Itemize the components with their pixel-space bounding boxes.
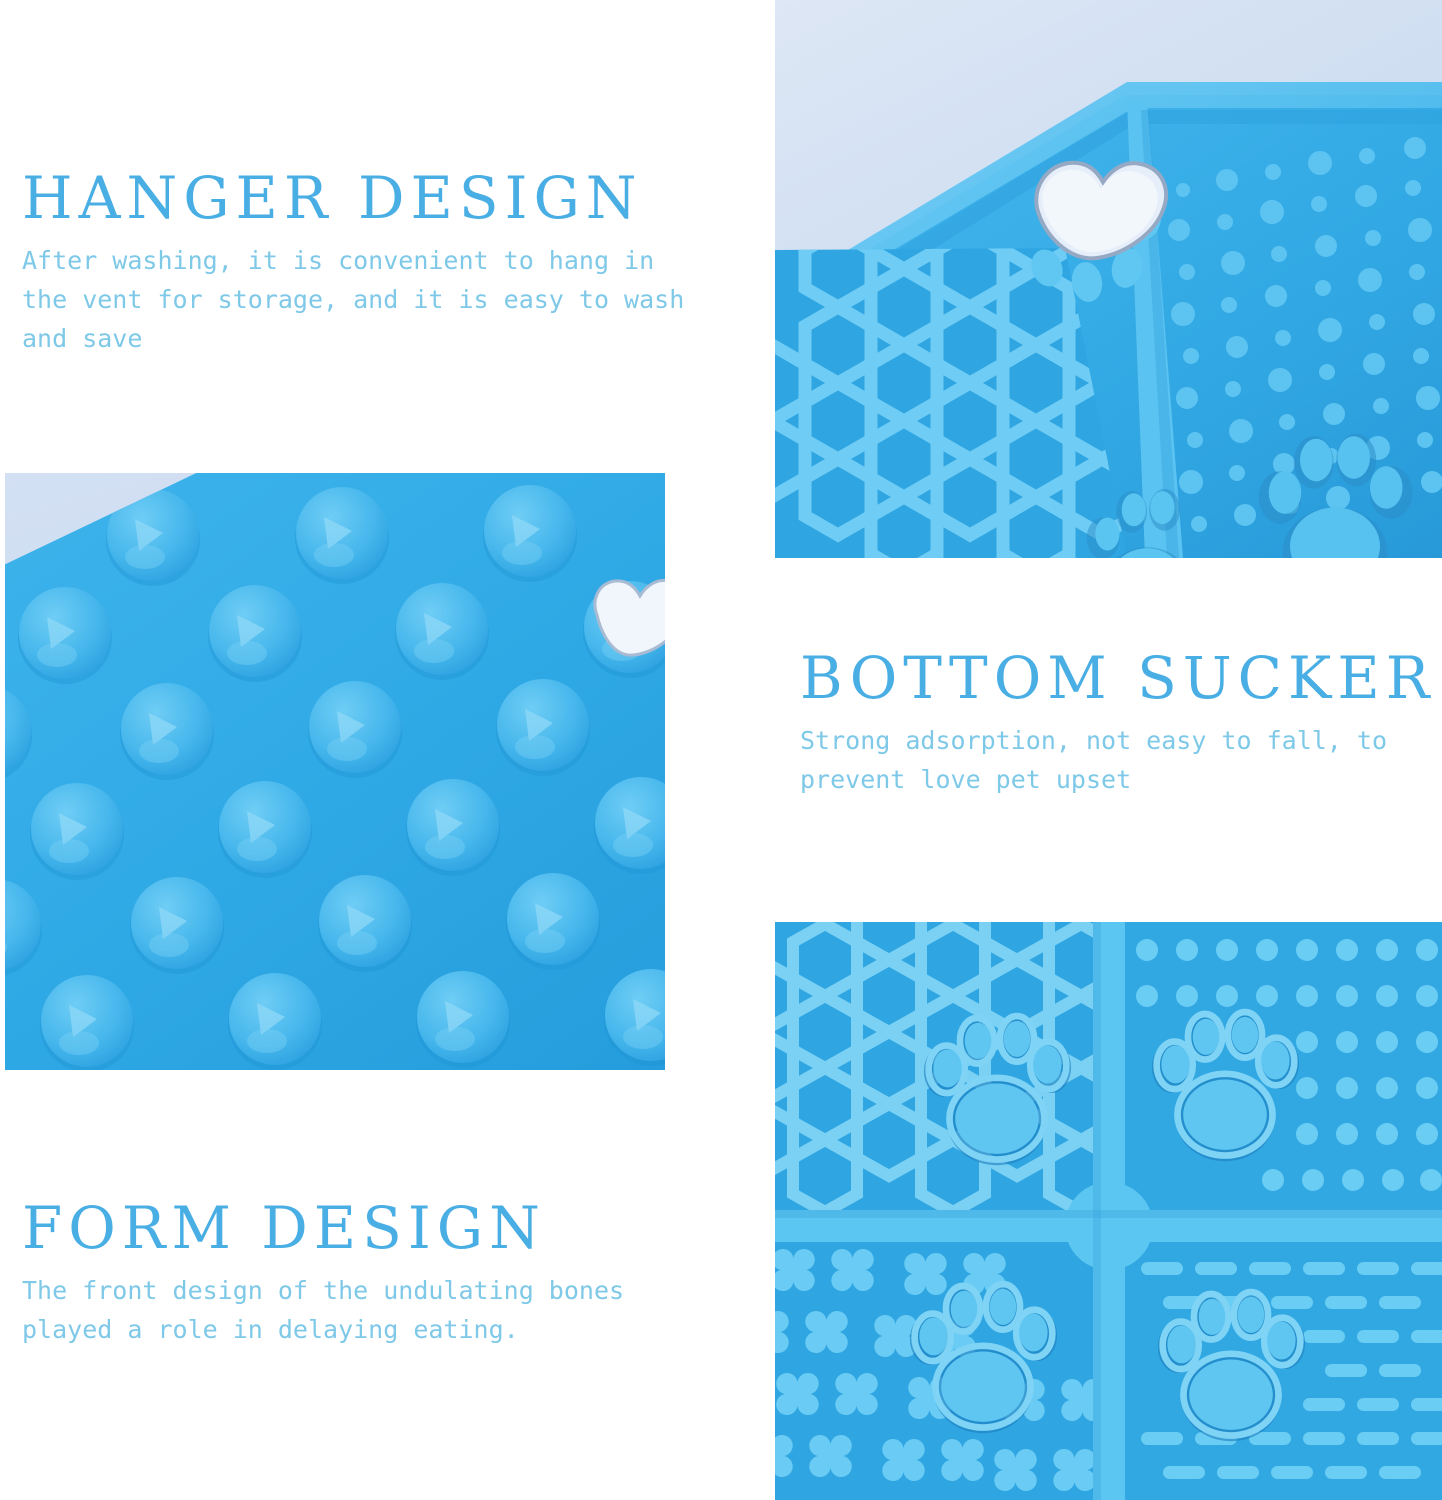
feature-description-form: The front design of the undulating bones… [22, 1272, 702, 1350]
hanger-mat-illustration [775, 0, 1442, 558]
mat-underside [5, 473, 665, 1070]
sucker-mat-illustration [5, 473, 665, 1070]
feature-block-hanger: HANGER DESIGN After washing, it is conve… [22, 168, 712, 359]
feature-block-form: FORM DESIGN The front design of the undu… [22, 1198, 702, 1350]
quadrant-dots [1123, 922, 1442, 1210]
product-photo-hanger-design [775, 0, 1442, 558]
quadrant-wavy-dashes [1123, 1240, 1442, 1500]
quadrant-bones [775, 1240, 1104, 1500]
form-mat-illustration [775, 922, 1442, 1500]
quadrant-honeycomb [775, 922, 1113, 1212]
feature-description-sucker: Strong adsorption, not easy to fall, to … [800, 722, 1430, 800]
feature-description-hanger: After washing, it is convenient to hang … [22, 242, 712, 358]
product-photo-bottom-sucker [5, 473, 665, 1070]
product-photo-form-design [775, 922, 1442, 1500]
feature-block-sucker: BOTTOM SUCKER Strong adsorption, not eas… [800, 648, 1430, 800]
feature-title-form: FORM DESIGN [22, 1198, 702, 1258]
feature-title-hanger: HANGER DESIGN [22, 168, 712, 228]
feature-title-sucker: BOTTOM SUCKER [800, 648, 1430, 708]
